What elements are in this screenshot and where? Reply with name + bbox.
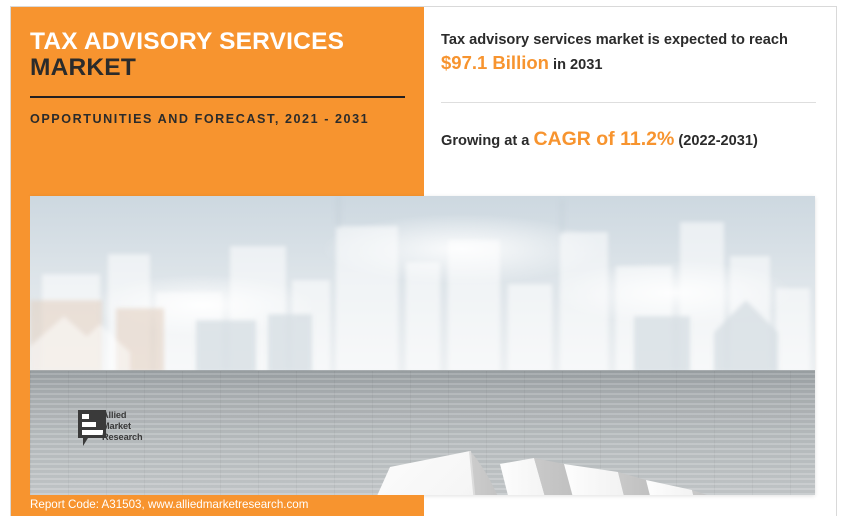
fact-cagr-suffix: (2022-2031): [674, 133, 758, 149]
page-subtitle: OPPORTUNITIES AND FORECAST, 2021 - 2031: [30, 111, 410, 127]
logo-wordmark: Allied Market Research: [102, 410, 143, 442]
city-skyline: [30, 196, 815, 372]
hero-photo: TAX: [30, 196, 815, 495]
page-title-primary: TAX ADVISORY SERVICES: [30, 28, 344, 55]
page-title-secondary: MARKET: [30, 54, 136, 81]
page-title: TAX ADVISORY SERVICESMARKET: [30, 29, 400, 82]
logo-line-3: Research: [102, 432, 143, 443]
fact-market-size: Tax advisory services market is expected…: [441, 30, 821, 76]
fact-market-size-suffix: in 2031: [549, 57, 603, 73]
footer-bar: Report Code: A31503, www.alliedmarketres…: [11, 495, 424, 516]
left-accent-strip: [11, 196, 30, 496]
allied-market-research-logo: Allied Market Research: [76, 408, 162, 454]
fact-cagr-value: CAGR of 11.2%: [533, 128, 674, 150]
page-border-right: [836, 6, 837, 516]
header-divider: [30, 96, 405, 98]
report-code-text: Report Code: A31503, www.alliedmarketres…: [30, 498, 308, 511]
header-banner: TAX ADVISORY SERVICESMARKET OPPORTUNITIE…: [11, 7, 424, 196]
key-facts-panel: Tax advisory services market is expected…: [441, 30, 821, 153]
fact-cagr: Growing at a CAGR of 11.2% (2022-2031): [441, 126, 821, 153]
fact-market-size-value: $97.1 Billion: [441, 52, 549, 73]
logo-line-1: Allied: [102, 410, 143, 421]
folded-paper-waves: [500, 428, 815, 495]
fact-cagr-prefix: Growing at a: [441, 133, 533, 149]
logo-line-2: Market: [102, 421, 143, 432]
report-infographic-page: TAX ADVISORY SERVICESMARKET OPPORTUNITIE…: [0, 0, 847, 516]
facts-divider: [441, 102, 816, 103]
fact-market-size-prefix: Tax advisory services market is expected…: [441, 32, 788, 48]
